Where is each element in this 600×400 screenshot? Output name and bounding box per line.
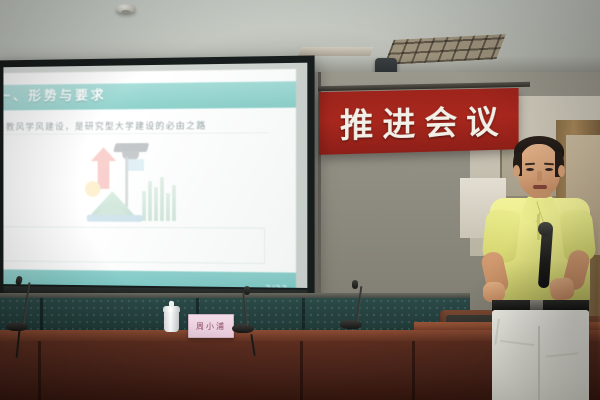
smoke-detector-icon bbox=[116, 4, 136, 13]
name-placard: 周小浦 bbox=[188, 314, 234, 338]
hand-left bbox=[483, 282, 505, 302]
sun-icon bbox=[85, 181, 101, 197]
flag-icon bbox=[128, 159, 144, 171]
presentation-slide: 一、形势与要求 优良教风学风建设，是研究型大学建设的必由之路 bbox=[3, 69, 296, 273]
table-seam bbox=[300, 341, 303, 400]
eye bbox=[526, 168, 534, 171]
eye bbox=[545, 168, 553, 171]
slide-content-box bbox=[3, 226, 265, 264]
slide-footer-bar bbox=[3, 269, 296, 288]
slide-title: 一、形势与要求 bbox=[3, 86, 106, 109]
slide-body-text: 优良教风学风建设，是研究型大学建设的必由之路 bbox=[3, 118, 283, 133]
microphone-base bbox=[232, 324, 254, 333]
microphone-head-icon bbox=[244, 286, 250, 295]
campus-towers-icon bbox=[142, 173, 176, 221]
handheld-microphone-head bbox=[538, 222, 553, 236]
teacup-knob bbox=[169, 301, 174, 307]
name-placard-text: 周小浦 bbox=[196, 321, 226, 332]
teacup bbox=[164, 310, 179, 332]
trouser-seam bbox=[538, 326, 540, 400]
mouth bbox=[533, 185, 547, 189]
microphone-base bbox=[6, 322, 28, 331]
dado-seam bbox=[302, 298, 305, 334]
ear bbox=[558, 165, 565, 177]
screen-surface: 一、形势与要求 优良教风学风建设，是研究型大学建设的必由之路 bbox=[3, 63, 307, 288]
ear bbox=[513, 165, 520, 177]
presentation-photo-scene: 推进会议 一、形势与要求 优良教风学风建设，是研究型大学建设的必由之路 bbox=[0, 0, 600, 400]
microphone-base bbox=[340, 320, 362, 329]
slide-graphic-graduation-campus-icon bbox=[85, 143, 174, 225]
nose bbox=[537, 171, 542, 181]
slide-page-indicator: 3/23 bbox=[265, 284, 288, 288]
table-seam bbox=[38, 341, 41, 400]
dado-seam bbox=[40, 298, 43, 334]
projection-screen: 一、形势与要求 优良教风学风建设，是研究型大学建设的必由之路 bbox=[0, 55, 315, 312]
table-seam bbox=[412, 341, 415, 400]
microphone-head-icon bbox=[352, 280, 358, 289]
speaker-person bbox=[478, 130, 598, 400]
trouser-pocket bbox=[494, 319, 519, 348]
base-bar bbox=[87, 215, 142, 222]
